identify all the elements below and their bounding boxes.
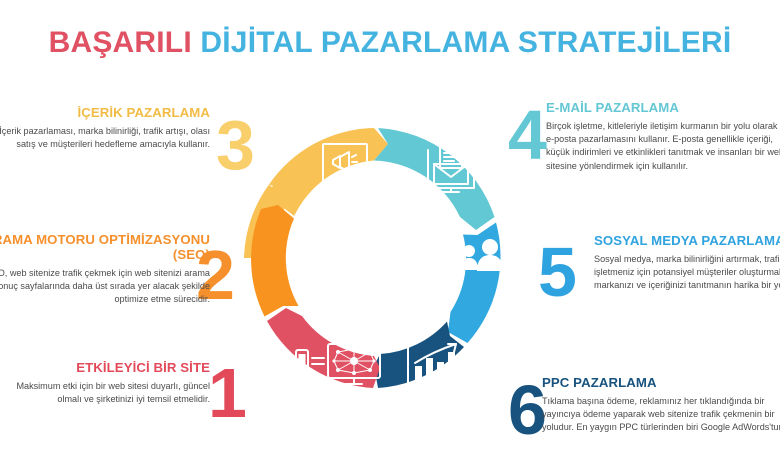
- callout-email-marketing: E-MAİL PAZARLAMA Birçok işletme, kitlele…: [546, 100, 780, 173]
- number-5: 5: [538, 237, 577, 307]
- title-part-2: DİJİTAL PAZARLAMA STRATEJİLERİ: [200, 26, 731, 59]
- number-3: 3: [216, 110, 255, 180]
- infographic-canvas: BAŞARILI DİJİTAL PAZARLAMA STRATEJİLERİ: [0, 0, 780, 470]
- callout-3-body: İçerik pazarlaması, marka bilinirliği, t…: [0, 125, 210, 151]
- callout-social-media-marketing: SOSYAL MEDYA PAZARLAMA Sosyal medya, mar…: [594, 233, 780, 293]
- callout-ppc-marketing: PPC PAZARLAMA Tıklama başına ödeme, rekl…: [542, 375, 780, 435]
- segment-seo: [251, 205, 298, 317]
- callout-content-marketing: İÇERİK PAZARLAMA İçerik pazarlaması, mar…: [0, 105, 210, 151]
- callout-4-heading: E-MAİL PAZARLAMA: [546, 100, 780, 115]
- callout-1-heading: ETKİLEYİCİ BİR SİTE: [0, 360, 210, 375]
- callout-responsive-website: ETKİLEYİCİ BİR SİTE Maksimum etki için b…: [0, 360, 210, 406]
- cycle-donut-chart: SEO: [228, 92, 520, 422]
- callout-5-heading: SOSYAL MEDYA PAZARLAMA: [594, 233, 780, 248]
- title-part-1: BAŞARILI: [49, 26, 192, 59]
- number-1: 1: [208, 358, 247, 428]
- callout-6-heading: PPC PAZARLAMA: [542, 375, 780, 390]
- callout-2-body: SEO, web sitenize trafik çekmek için web…: [0, 267, 210, 307]
- number-4: 4: [508, 100, 547, 170]
- page-title: BAŞARILI DİJİTAL PAZARLAMA STRATEJİLERİ: [0, 26, 780, 60]
- callout-seo: ARAMA MOTORU OPTİMİZASYONU (SEO) SEO, we…: [0, 232, 210, 307]
- callout-4-body: Birçok işletme, kitleleriyle iletişim ku…: [546, 120, 780, 173]
- callout-5-body: Sosyal medya, marka bilinirliğini artırm…: [594, 253, 780, 293]
- donut-center-hole: [302, 186, 446, 330]
- callout-6-body: Tıklama başına ödeme, reklamınız her tık…: [542, 395, 780, 435]
- callout-1-body: Maksimum etki için bir web sitesi duyarl…: [0, 380, 210, 406]
- callout-3-heading: İÇERİK PAZARLAMA: [0, 105, 210, 120]
- callout-2-heading: ARAMA MOTORU OPTİMİZASYONU (SEO): [0, 232, 210, 262]
